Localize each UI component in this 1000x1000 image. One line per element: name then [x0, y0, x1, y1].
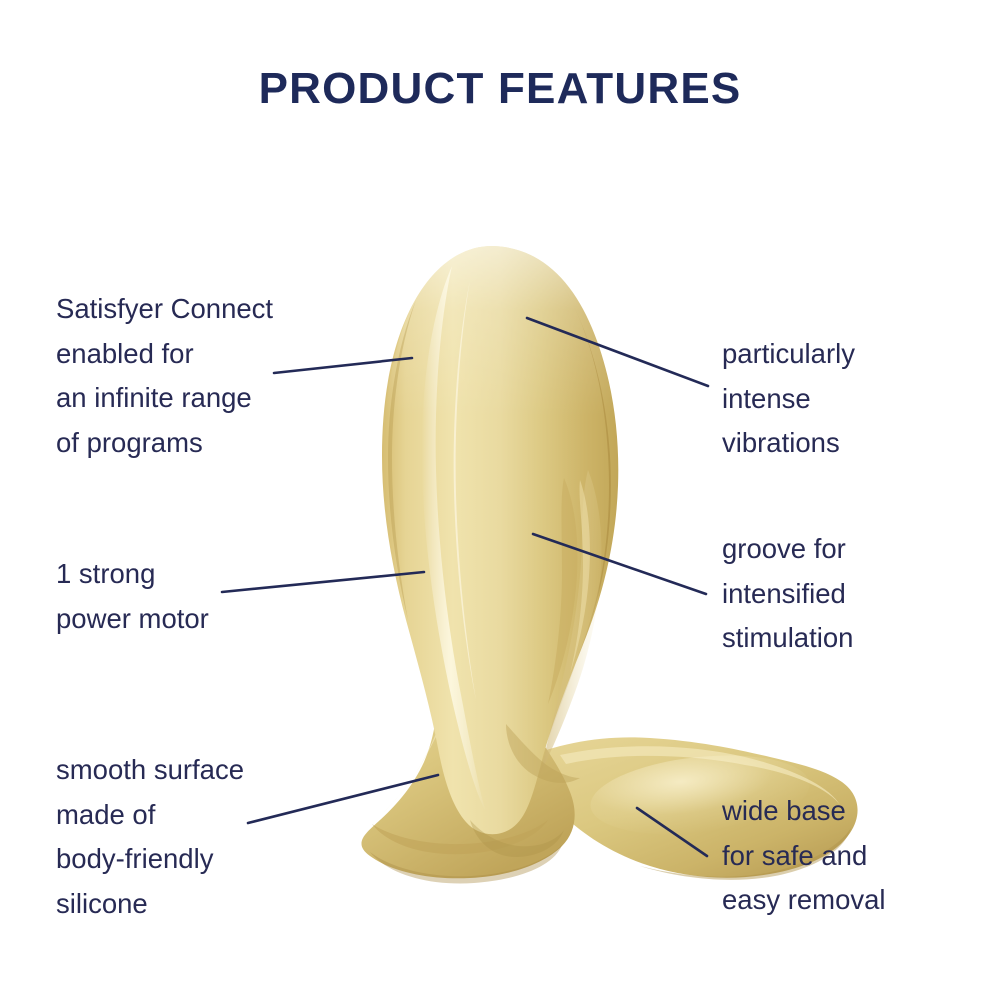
callout-intense-vibrations: particularly intense vibrations [722, 332, 982, 466]
callout-groove: groove for intensified stimulation [722, 527, 982, 661]
callout-smooth-surface: smooth surface made of body-friendly sil… [56, 748, 386, 926]
page-title: PRODUCT FEATURES [0, 64, 1000, 114]
callout-satisfyer-connect: Satisfyer Connect enabled for an infinit… [56, 287, 376, 465]
product-features-infographic: PRODUCT FEATURES Satisfyer Connect enabl… [0, 0, 1000, 1000]
callout-power-motor: 1 strong power motor [56, 552, 356, 641]
callout-wide-base: wide base for safe and easy removal [722, 789, 992, 923]
